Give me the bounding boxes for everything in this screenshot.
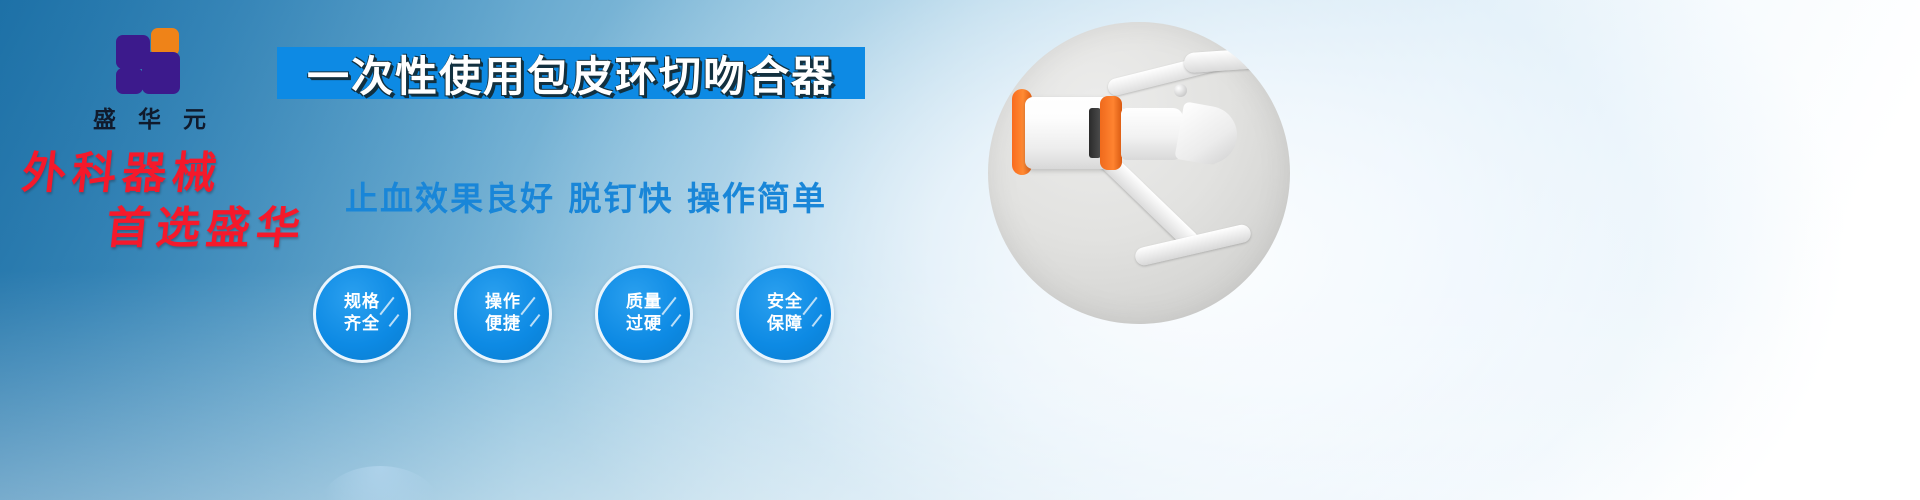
feature-badge-quality[interactable]: 质量 过硬	[595, 265, 693, 363]
badge-label-line1: 操作	[485, 292, 521, 312]
logo-square-bottom-left	[116, 68, 143, 94]
company-name: 盛 华 元	[57, 100, 242, 134]
device-arm-lower-outer	[1133, 223, 1252, 267]
badge-label-line2: 保障	[767, 314, 803, 334]
slash-accent-icon	[389, 314, 400, 327]
product-photo	[988, 22, 1290, 324]
slash-accent-icon	[802, 297, 817, 316]
device-pivot	[1174, 84, 1187, 97]
calligraphy-slogan: 外科器械 首选盛华	[22, 152, 352, 252]
feature-badge-list: 规格 齐全 操作 便捷 质量 过硬 安全 保障	[313, 265, 834, 363]
bottom-glow	[320, 466, 440, 500]
feature-badge-operation[interactable]: 操作 便捷	[454, 265, 552, 363]
feature-badge-safety[interactable]: 安全 保障	[736, 265, 834, 363]
slash-accent-icon	[812, 314, 823, 327]
slash-accent-icon	[379, 297, 394, 316]
subtitle: 止血效果良好 脱钉快 操作简单	[345, 172, 905, 220]
badge-label-line2: 过硬	[626, 314, 662, 334]
badge-label-line2: 便捷	[485, 314, 521, 334]
device-nozzle	[1121, 108, 1183, 160]
main-title-bar: 一次性使用包皮环切吻合器	[277, 47, 865, 99]
brand-logo-block[interactable]: 盛 华 元	[57, 28, 242, 134]
slash-accent-icon	[530, 314, 541, 327]
badge-label-line2: 齐全	[344, 314, 380, 334]
slash-accent-icon	[520, 297, 535, 316]
shenghuayuan-logo-icon	[116, 28, 184, 94]
page-title: 一次性使用包皮环切吻合器	[307, 43, 835, 104]
bottom-sheen	[0, 270, 1920, 500]
slash-accent-icon	[671, 314, 682, 327]
badge-label-line1: 质量	[626, 292, 662, 312]
logo-square-bottom-right	[142, 52, 180, 94]
promo-banner: 盛 华 元 外科器械 首选盛华 一次性使用包皮环切吻合器 止血效果良好 脱钉快 …	[0, 0, 1920, 500]
feature-badge-specifications[interactable]: 规格 齐全	[313, 265, 411, 363]
calligraphy-line-1: 外科器械	[20, 152, 355, 197]
slash-accent-icon	[661, 297, 676, 316]
device-arm-upper-outer	[1183, 47, 1280, 74]
badge-label-line1: 安全	[767, 292, 803, 312]
badge-label-line1: 规格	[344, 292, 380, 312]
device-orange-ring-front	[1100, 96, 1122, 170]
device-tip	[1174, 101, 1241, 168]
calligraphy-line-2: 首选盛华	[104, 207, 355, 252]
